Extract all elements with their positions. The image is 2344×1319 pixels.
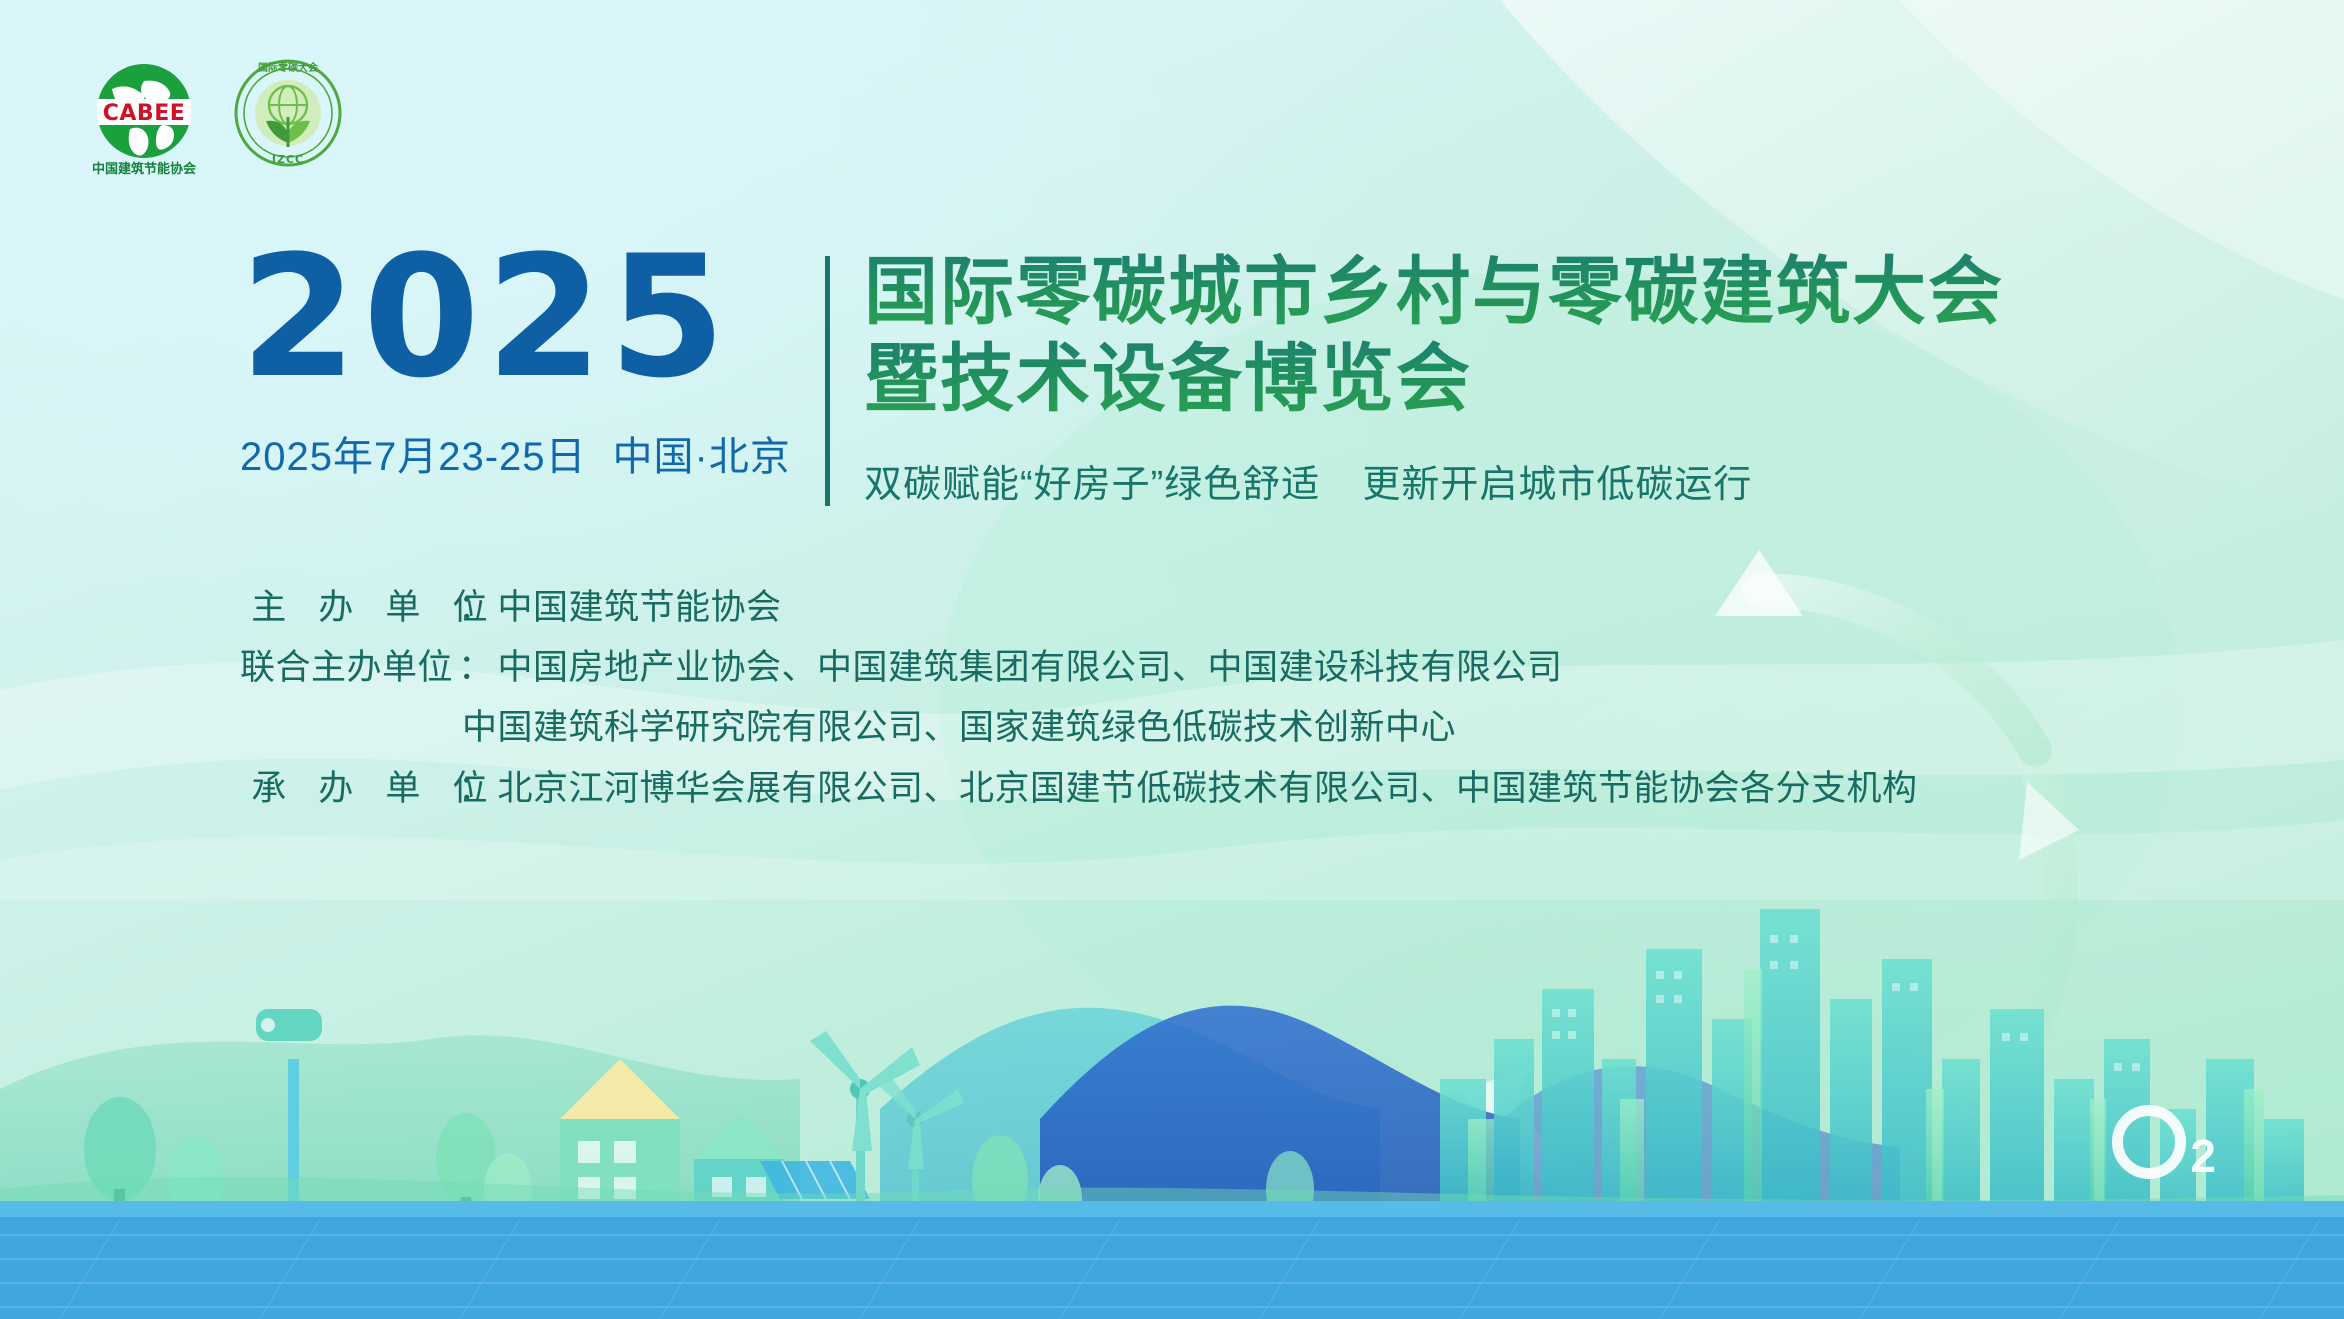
organizer-label: 联合主办单位 [240,638,458,698]
organizer-colon: ： [458,638,494,698]
title-column: 国际零碳城市乡村与零碳建筑大会 暨技术设备博览会 双碳赋能“好房子”绿色舒适更新… [864,238,2004,508]
organizer-row: 主 办 单 位 ： 中国建筑节能协会 [240,578,1918,638]
izcc-acronym: IZCC [272,153,304,166]
organizer-label: 主 办 单 位 [240,578,458,638]
tagline-part-2: 更新开启城市低碳运行 [1362,464,1752,506]
logo-group: CABEE 中国建筑节能协会 国际零碳大会 IZCC [82,55,344,184]
organizer-value: 中国建筑节能协会 [498,578,782,638]
izcc-ring-text-cn: 国际零碳大会 [258,61,318,74]
vertical-divider [825,256,830,506]
title-line-1: 国际零碳城市乡村与零碳建筑大会 [864,248,2004,335]
cabee-caption: 中国建筑节能协会 [92,161,197,177]
tagline: 双碳赋能“好房子”绿色舒适更新开启城市低碳运行 [864,453,2004,508]
cabee-acronym: CABEE [103,101,186,126]
organizer-colon: ： [458,578,494,638]
year-text: 2025 [240,238,825,398]
cabee-logo: CABEE 中国建筑节能协会 [82,55,206,184]
conference-banner: CABEE 中国建筑节能协会 国际零碳大会 IZCC 2025 [0,0,2344,1319]
event-location: 中国·北京 [613,435,791,479]
izcc-logo: 国际零碳大会 IZCC [232,55,344,178]
year-column: 2025 2025年7月23-25日中国·北京 [240,238,825,482]
date-location-line: 2025年7月23-25日中国·北京 [240,424,825,482]
organizer-value: 中国房地产业协会、中国建筑集团有限公司、中国建设科技有限公司 [498,638,1563,698]
title-line-2: 暨技术设备博览会 [864,335,2004,422]
header-block: 2025 2025年7月23-25日中国·北京 国际零碳城市乡村与零碳建筑大会 … [240,238,2004,508]
event-date: 2025年7月23-25日 [240,435,587,479]
tagline-part-1: 双碳赋能“好房子”绿色舒适 [864,464,1320,506]
river-water [0,1201,2344,1319]
city-skyline [1440,909,2304,1229]
organizer-row: 中国建筑科学研究院有限公司、国家建筑绿色低碳技术创新中心 [240,698,1918,758]
organizer-row: 联合主办单位 ： 中国房地产业协会、中国建筑集团有限公司、中国建设科技有限公司 [240,638,1918,698]
organizer-value: 中国建筑科学研究院有限公司、国家建筑绿色低碳技术创新中心 [462,698,1456,758]
